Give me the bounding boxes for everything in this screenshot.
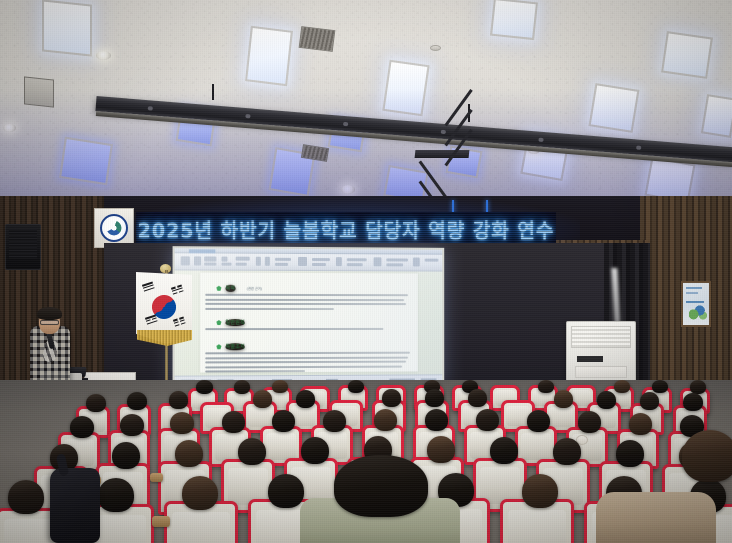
smoke-detector-icon [430,45,441,51]
institution-emblem-plaque [94,208,134,248]
loudspeaker [5,224,41,270]
section-body-text [205,352,412,376]
audience-head [169,391,188,409]
green-bullet-icon [216,320,221,325]
led-banner: 2025년 하반기 늘봄학교 담당자 역량 강화 연수 [136,212,556,246]
ceiling-light-panel [661,31,713,79]
backpack [50,468,100,543]
audience-head [272,410,295,432]
section-body-text [205,328,412,333]
audience-head [490,437,518,464]
ceiling-light-panel [245,26,293,86]
audience-head [382,389,401,407]
audience-head [538,380,554,393]
ac-display [577,356,603,362]
led-banner-text: 2025년 하반기 늘봄학교 담당자 역량 강화 연수 [138,215,555,243]
section-body-text [205,294,412,313]
foreground-person-head [334,455,428,517]
section-heading: 목적 [225,285,235,292]
audience-head [296,390,315,408]
audience-head [234,380,250,394]
foreground-person-shoulders [596,492,716,543]
green-bullet-icon [216,344,221,349]
audience-head [8,480,44,514]
audience-head [182,476,218,510]
audience-head [374,409,397,431]
audience-head [554,390,573,408]
trigram-geon-icon [142,282,155,294]
poster-artwork [683,283,709,325]
auditorium-photo: 2025년 하반기 늘봄학교 담당자 역량 강화 연수 [0,0,732,543]
ceiling-downlight [96,51,111,60]
audience-head [427,436,455,463]
audience-head [253,390,272,408]
trigram-gon-icon [173,317,186,329]
section-heading: 일반원칙 [225,319,244,326]
audience-head [425,389,444,407]
foreground-person-head [682,430,732,482]
audience-head [70,416,94,438]
projection-screen: 목적 (관련 근거) 일반원칙 특별조치 [173,246,445,388]
audience-head [614,380,630,393]
projected-document: 목적 (관련 근거) 일반원칙 특별조치 [175,248,443,386]
audience-head [323,410,346,432]
audience-head [527,410,550,432]
poster-leaf-icon [689,304,707,320]
audience-head [425,409,448,431]
section-heading: 특별조치 [225,343,244,350]
education-office-emblem-icon [100,214,128,242]
projector-lift-plate [415,150,470,158]
ceiling-vent [299,26,336,52]
presenter-glasses-icon [40,320,59,325]
audience-head [175,440,203,467]
ceiling-light-panel [42,0,92,57]
ac-control-panel [575,366,627,378]
audience-head [578,411,601,433]
audience-head [222,411,245,433]
audience-head [640,392,659,410]
audience-head [98,478,134,512]
trigram-ri-icon [145,315,158,327]
audience-head [468,389,487,407]
audience-head [268,474,304,508]
document-ribbon-toolbar [175,253,443,271]
audience-head [616,440,644,467]
audience-head [196,380,213,394]
seat-armrest [152,516,170,527]
section-subnote: (관련 근거) [247,286,262,291]
ac-grille-icon [571,326,631,348]
audience-head [112,442,140,469]
audience-head [690,380,706,394]
track-hanger [212,84,214,100]
audience-head [683,393,703,411]
audience-head [272,380,288,393]
ceiling-light-panel [490,0,538,40]
seat-armrest [150,473,163,482]
audience-head [652,380,668,393]
speaker-grille-icon [9,229,37,259]
audience-head [120,414,144,436]
trigram-gam-icon [171,285,184,297]
framed-poster [681,281,711,327]
audience-head [301,437,329,464]
audience-head [127,392,147,410]
audience-head [476,409,499,431]
audience-head [170,412,194,434]
audience-head [86,394,106,412]
green-bullet-icon [216,286,221,291]
document-page: 목적 (관련 근거) 일반원칙 특별조치 [200,273,418,373]
audience-head [629,413,652,435]
audience-head [522,474,558,508]
audience-head [238,438,266,465]
audience-head [553,438,581,465]
audience-head [597,391,616,409]
audience-head [348,380,364,393]
presenter-cap [37,307,62,320]
